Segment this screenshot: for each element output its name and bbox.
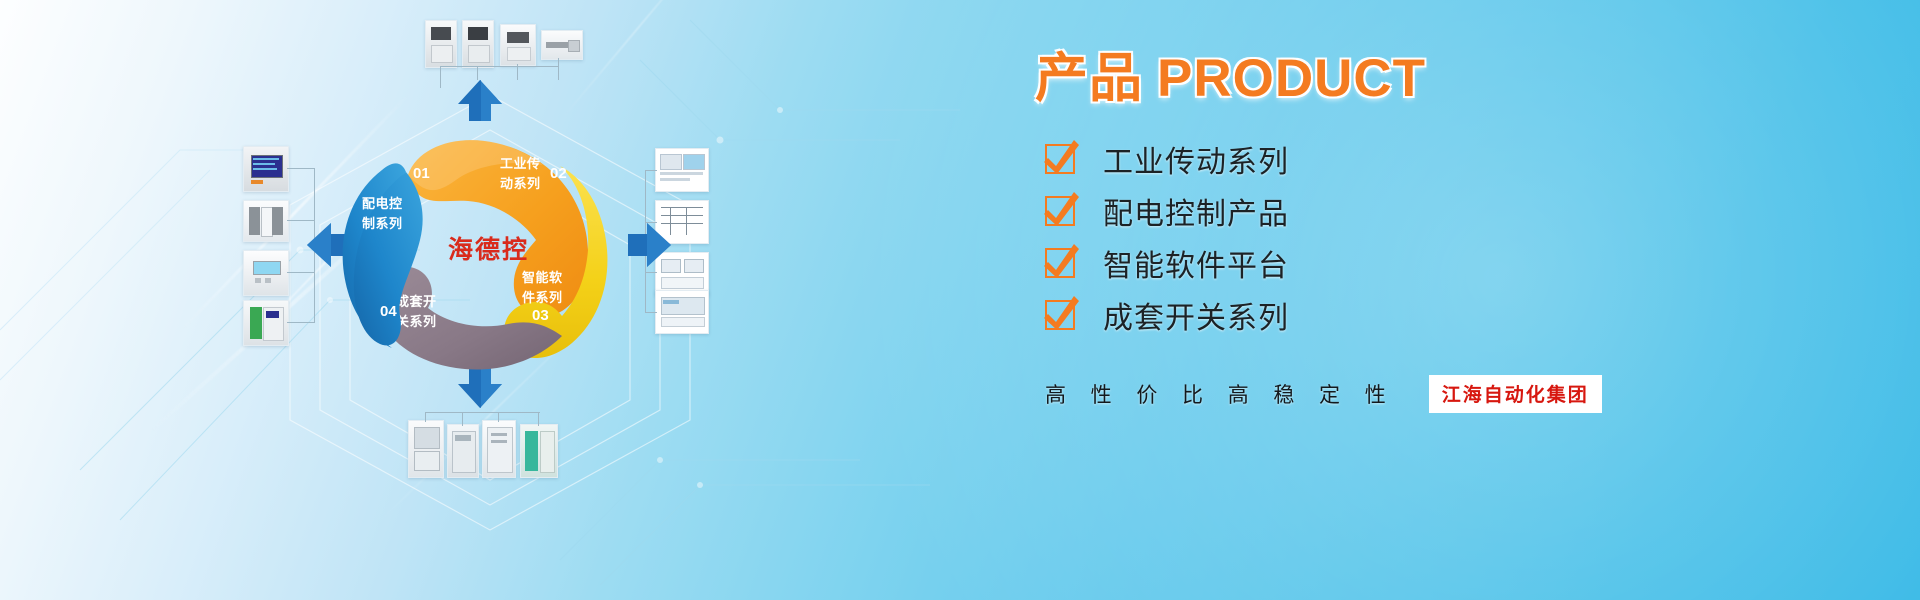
segment-label-industrial-drive-line2: 动系列 (500, 176, 541, 191)
segment-label-power-distribution-line1: 配电控 (362, 196, 403, 211)
feature-label: 智能软件平台 (1103, 241, 1289, 285)
connector-bottom (498, 412, 499, 422)
checkbox-checked-icon (1045, 144, 1075, 174)
tagline-row: 高 性 价 比 高 稳 定 性 江海自动化集团 (1045, 375, 1595, 413)
connector-bottom (462, 412, 463, 426)
page-title: 产品PRODUCT (1035, 52, 1595, 105)
product-thumb-sensor (541, 30, 583, 60)
connector-top (517, 64, 518, 80)
product-thumb-cabinet-b (447, 424, 479, 478)
segment-label-smart-software-line1: 智能软 (522, 270, 563, 285)
product-banner: 01 工业传 动系列 02 智能软 件系列 03 成套开 关系列 (0, 0, 1920, 600)
product-thumb-drive (243, 300, 289, 346)
product-thumb-inverter-c (500, 24, 536, 66)
segment-number-02: 02 (550, 165, 567, 182)
diagram-center-brand: 海德控 (448, 235, 529, 264)
product-cycle-diagram: 01 工业传 动系列 02 智能软 件系列 03 成套开 关系列 (300, 100, 680, 400)
checkbox-checked-icon (1045, 248, 1075, 278)
page-title-cn: 产品 (1035, 48, 1143, 109)
connector-top (440, 66, 441, 88)
company-badge: 江海自动化集团 (1429, 375, 1602, 413)
segment-label-industrial-drive-line1: 工业传 (500, 156, 541, 171)
product-thumb-cabinet-c (482, 420, 516, 478)
segment-number-01: 01 (413, 165, 430, 182)
connector-top (558, 58, 559, 80)
feature-label: 配电控制产品 (1103, 189, 1289, 233)
list-item[interactable]: 配电控制产品 (1045, 185, 1595, 237)
connector-bottom (425, 412, 426, 422)
feature-list: 工业传动系列 配电控制产品 智能软件平台 (1045, 133, 1595, 341)
page-title-en: PRODUCT (1157, 49, 1426, 108)
segment-label-switchgear-line1: 成套开 (396, 294, 437, 309)
segment-label-smart-software-line2: 件系列 (522, 290, 563, 305)
product-thumb-inverter-b (462, 20, 494, 68)
connector-top-spine (440, 66, 558, 67)
product-thumb-cabinet-a (408, 420, 444, 478)
feature-label: 成套开关系列 (1103, 293, 1289, 337)
segment-number-03: 03 (532, 307, 549, 324)
connector-bottom (538, 412, 539, 426)
checkbox-checked-icon (1045, 300, 1075, 330)
connector-bottom-spine (425, 412, 540, 413)
tagline-text: 高 性 价 比 高 稳 定 性 (1045, 379, 1395, 409)
segment-label-power-distribution-line2: 制系列 (362, 216, 403, 231)
list-item[interactable]: 工业传动系列 (1045, 133, 1595, 185)
product-thumb-cabinet-d (520, 424, 558, 478)
segment-label-switchgear-line2: 关系列 (396, 314, 437, 329)
segment-number-04: 04 (380, 303, 397, 320)
list-item[interactable]: 智能软件平台 (1045, 237, 1595, 289)
right-content-panel: 产品PRODUCT 工业传动系列 配电控制产品 (1035, 52, 1595, 413)
product-thumb-meter (243, 146, 289, 192)
checkbox-checked-icon (1045, 196, 1075, 226)
product-thumb-controller (243, 250, 289, 296)
feature-label: 工业传动系列 (1103, 137, 1289, 181)
product-thumb-breaker (243, 200, 289, 242)
list-item[interactable]: 成套开关系列 (1045, 289, 1595, 341)
product-thumb-inverter-a (425, 20, 457, 68)
